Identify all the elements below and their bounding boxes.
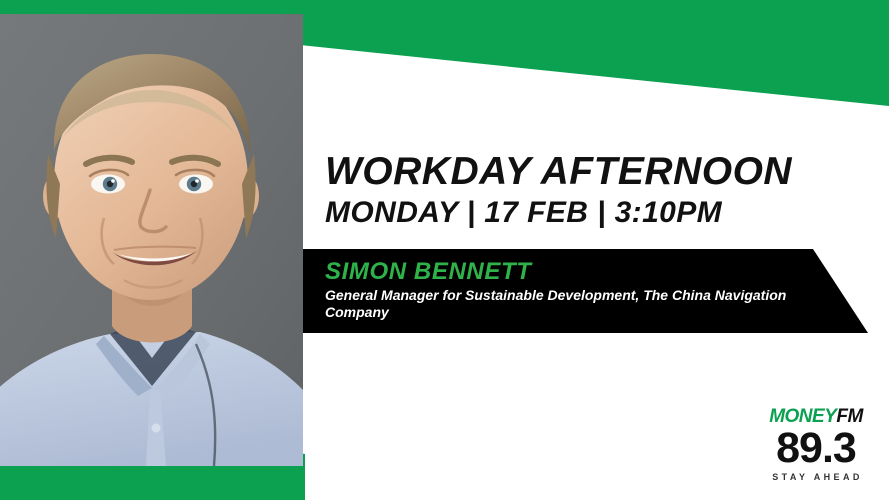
programme-schedule: MONDAY | 17 FEB | 3:10PM (325, 196, 865, 230)
guest-portrait (0, 14, 303, 466)
programme-title: WORKDAY AFTERNOON (325, 150, 865, 194)
programme-headline-block: WORKDAY AFTERNOON MONDAY | 17 FEB | 3:10… (325, 150, 865, 230)
logo-frequency: 89.3 (757, 427, 875, 470)
speaker-banner: SIMON BENNETT General Manager for Sustai… (303, 249, 873, 333)
speaker-banner-content: SIMON BENNETT General Manager for Sustai… (303, 249, 873, 321)
speaker-job-title: General Manager for Sustainable Developm… (325, 287, 825, 321)
speaker-name: SIMON BENNETT (325, 258, 873, 285)
logo-tagline: STAY AHEAD (757, 473, 875, 482)
broadcast-promo-slate: WORKDAY AFTERNOON MONDAY | 17 FEB | 3:10… (0, 0, 889, 500)
station-logo: MONEYFM 89.3 STAY AHEAD (757, 407, 875, 482)
